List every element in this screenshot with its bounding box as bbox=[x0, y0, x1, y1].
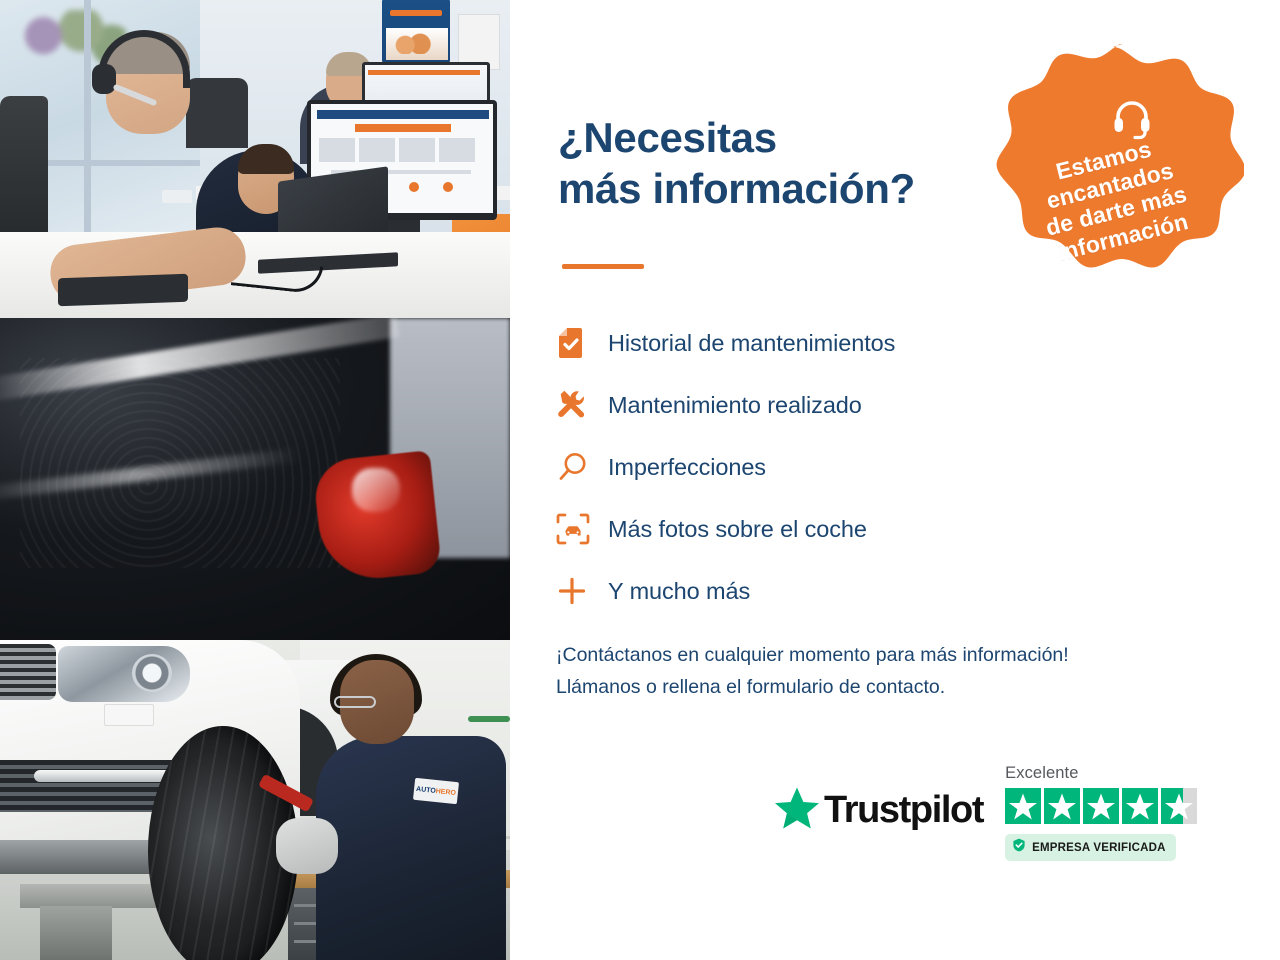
rating-star bbox=[1044, 788, 1080, 824]
call-center-agents-photo bbox=[0, 0, 510, 318]
plus-icon bbox=[556, 575, 608, 607]
uniform-brand-auto: AUTO bbox=[416, 785, 436, 794]
feature-item-much-more: Y mucho más bbox=[556, 560, 1116, 622]
trustpilot-rating-label: Excelente bbox=[1005, 764, 1078, 783]
photo3-green-hose bbox=[468, 716, 510, 722]
photo2-taillight-highlight bbox=[352, 468, 400, 512]
trustpilot-star-icon bbox=[774, 786, 820, 835]
tools-wrench-screwdriver-icon bbox=[556, 389, 608, 421]
trustpilot-score-column: Excelente bbox=[1005, 764, 1197, 861]
content-panel: ¿Necesitas más información? Historial de… bbox=[510, 0, 1280, 960]
rating-star-partial bbox=[1161, 788, 1197, 824]
trustpilot-rating-block[interactable]: Trustpilot Excelente bbox=[774, 764, 1197, 861]
feature-label: Más fotos sobre el coche bbox=[608, 516, 867, 543]
photo3-license-plate bbox=[104, 704, 154, 726]
feature-list: Historial de mantenimientos Mantenimient… bbox=[556, 312, 1116, 622]
trustpilot-wordmark: Trustpilot bbox=[824, 789, 983, 832]
photo1-headset-earcup bbox=[92, 64, 116, 94]
car-inspection-ruler-photo: AUTOHERO bbox=[0, 318, 510, 640]
photo1-uniform-badge bbox=[162, 190, 192, 203]
contact-paragraph: ¡Contáctanos en cualquier momento para m… bbox=[556, 640, 1256, 703]
feature-item-maintenance-history: Historial de mantenimientos bbox=[556, 312, 1116, 374]
document-check-icon bbox=[556, 326, 608, 360]
feature-item-imperfections: Imperfecciones bbox=[556, 436, 1116, 498]
photo3-technician-body bbox=[316, 736, 506, 960]
title-divider bbox=[562, 264, 644, 269]
feature-item-maintenance-done: Mantenimiento realizado bbox=[556, 374, 1116, 436]
photo-column: AUTOHERO bbox=[0, 0, 510, 960]
magnifier-icon bbox=[556, 451, 608, 483]
promo-page: AUTOHERO bbox=[0, 0, 1280, 960]
photo3-technician-glove bbox=[276, 818, 338, 874]
photo3-headlight bbox=[58, 646, 190, 702]
rating-star bbox=[1083, 788, 1119, 824]
feature-label: Mantenimiento realizado bbox=[608, 392, 862, 419]
feature-item-more-photos: Más fotos sobre el coche bbox=[556, 498, 1116, 560]
photo3-technician-glasses bbox=[334, 696, 376, 708]
photo1-tablet-on-desk bbox=[58, 274, 188, 307]
rating-star bbox=[1005, 788, 1041, 824]
verified-company-label: EMPRESA VERIFICADA bbox=[1032, 842, 1166, 854]
verified-company-badge: EMPRESA VERIFICADA bbox=[1005, 834, 1176, 861]
photo3-car-lift-column bbox=[40, 906, 112, 960]
trustpilot-logo[interactable]: Trustpilot bbox=[774, 786, 983, 835]
badge-text-wrapper: Estamos encantados de darte más informac… bbox=[982, 44, 1244, 306]
feature-label: Imperfecciones bbox=[608, 454, 766, 481]
uniform-brand-hero: HERO bbox=[435, 787, 456, 796]
photo3-front-grille bbox=[0, 644, 56, 700]
photo1-wall-poster-photo bbox=[386, 28, 448, 60]
feature-label: Y mucho más bbox=[608, 578, 750, 605]
badge-text: Estamos encantados de darte más informac… bbox=[1030, 130, 1195, 267]
photo3-uniform-badge: AUTOHERO bbox=[413, 778, 459, 804]
page-title: ¿Necesitas más información? bbox=[558, 112, 915, 214]
car-scan-frame-icon bbox=[556, 513, 608, 545]
promo-badge: Estamos encantados de darte más informac… bbox=[982, 44, 1244, 306]
workshop-wheel-change-photo: AUTOHERO bbox=[0, 640, 510, 960]
shield-check-icon bbox=[1012, 838, 1026, 857]
feature-label: Historial de mantenimientos bbox=[608, 330, 895, 357]
trustpilot-star-rating bbox=[1005, 788, 1197, 824]
rating-star bbox=[1122, 788, 1158, 824]
